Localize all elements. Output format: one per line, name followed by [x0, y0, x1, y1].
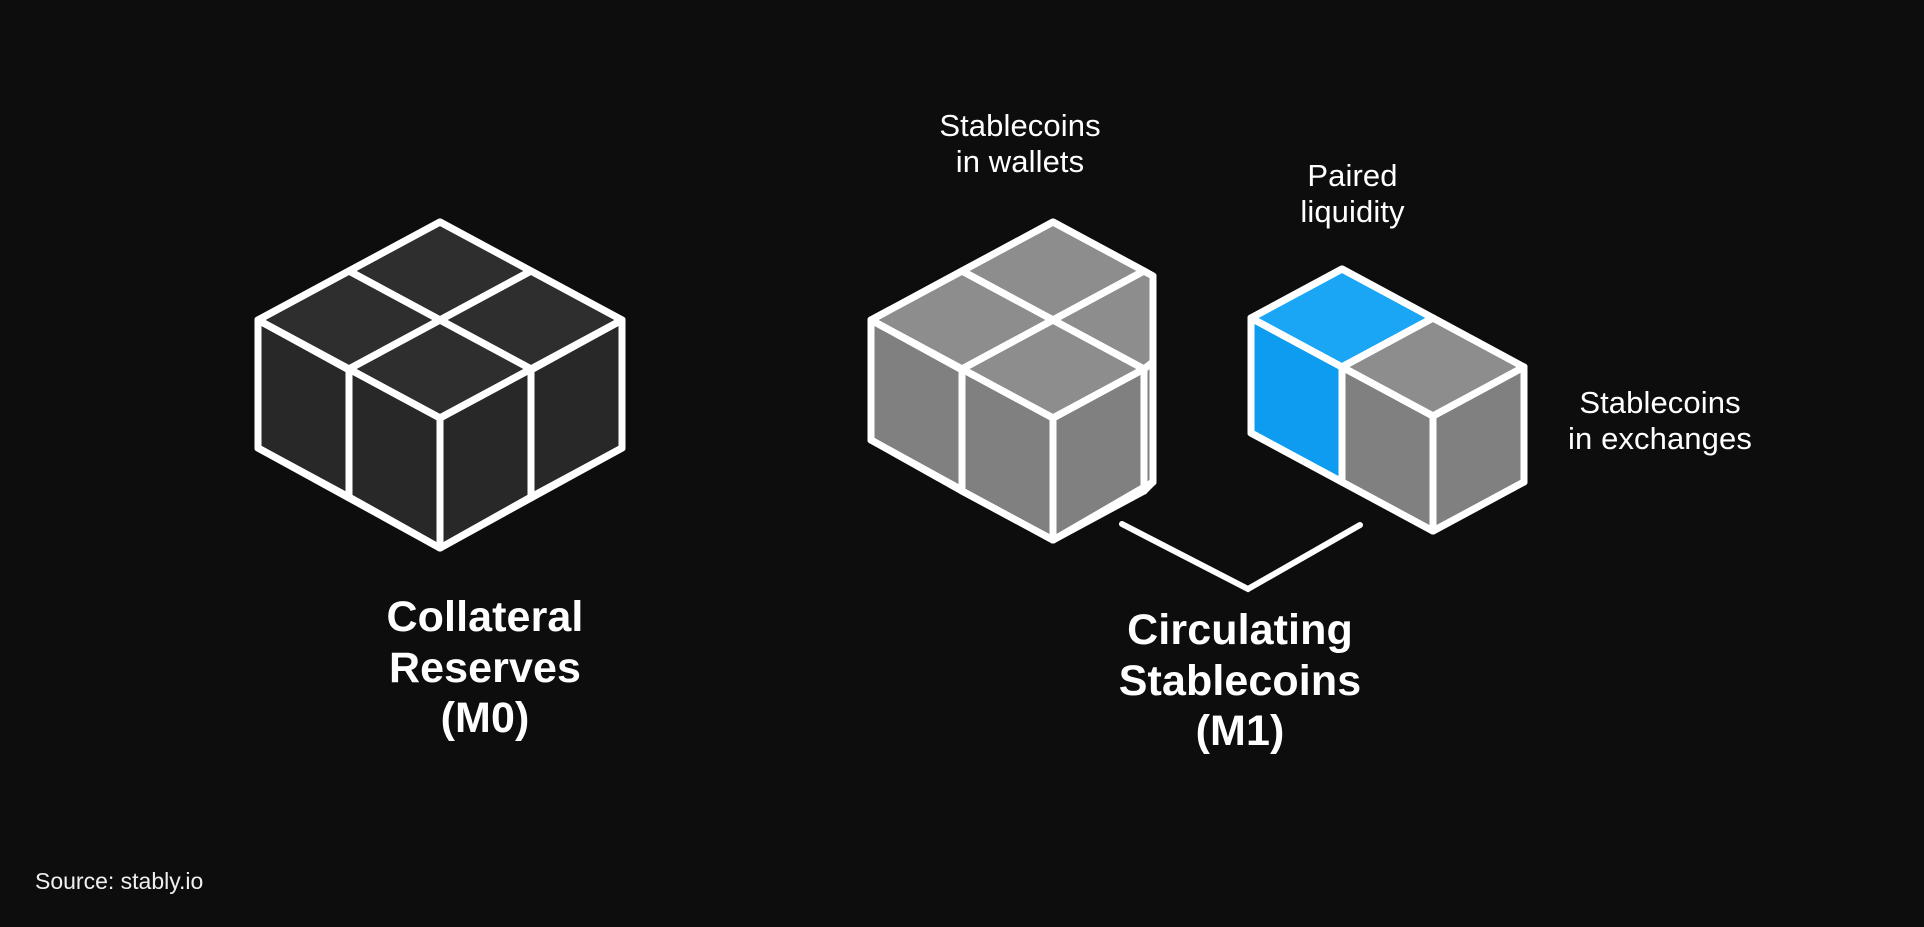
- collateral-reserves-block: [258, 222, 622, 548]
- diagram-canvas: Stablecoins in wallets Paired liquidity …: [0, 0, 1924, 927]
- stablecoins-in-wallets-block: [871, 222, 1153, 540]
- stablecoins-in-exchanges-cube: [1342, 318, 1524, 531]
- title-collateral-reserves-m0: Collateral Reserves (M0): [255, 592, 715, 744]
- m1-bracket-connector: [1122, 524, 1360, 589]
- label-paired-liquidity: Paired liquidity: [1245, 158, 1460, 230]
- exchange-cubes-row: [1251, 269, 1524, 531]
- source-attribution: Source: stably.io: [35, 868, 203, 895]
- label-stablecoins-in-wallets: Stablecoins in wallets: [870, 108, 1170, 180]
- title-circulating-stablecoins-m1: Circulating Stablecoins (M1): [1010, 605, 1470, 757]
- label-stablecoins-in-exchanges: Stablecoins in exchanges: [1525, 385, 1795, 457]
